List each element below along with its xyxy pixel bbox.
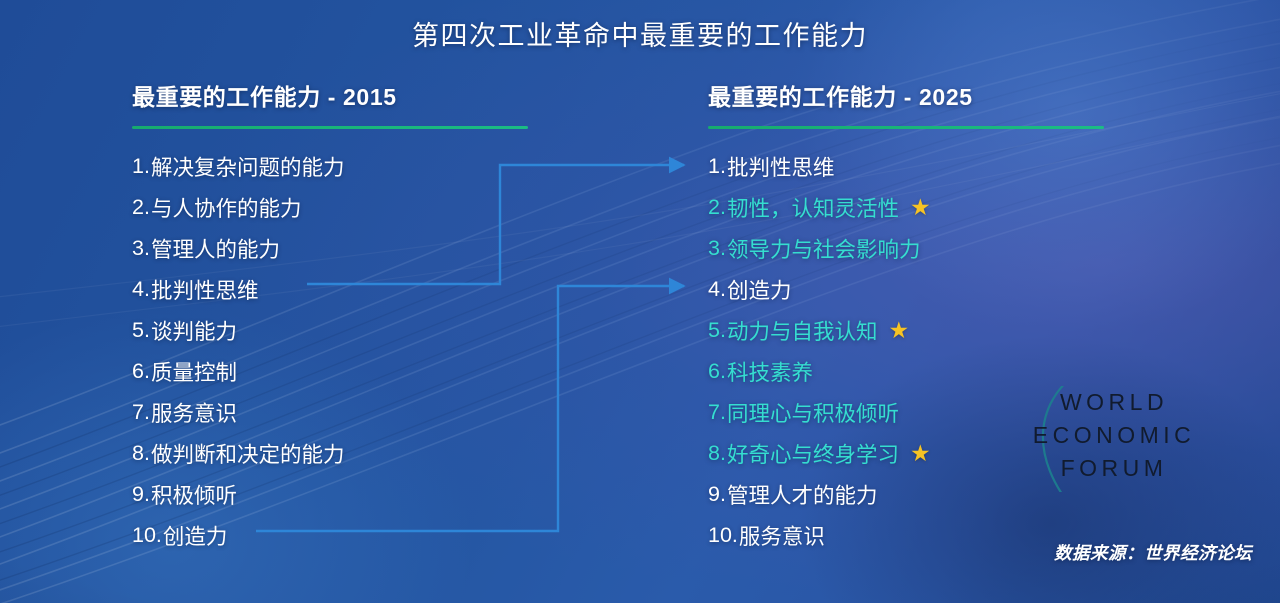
list-item: 5. 动力与自我认知 ★ bbox=[708, 310, 1108, 351]
item-label: 动力与自我认知 bbox=[727, 315, 878, 346]
item-index: 9. bbox=[132, 482, 150, 507]
item-index: 6. bbox=[132, 359, 150, 384]
wef-logo: WORLD ECONOMIC FORUM bbox=[1016, 386, 1212, 492]
item-label: 领导力与社会影响力 bbox=[727, 233, 921, 264]
wef-logo-line1: WORLD bbox=[1016, 386, 1212, 419]
item-label: 服务意识 bbox=[739, 520, 825, 551]
wef-logo-text: WORLD ECONOMIC FORUM bbox=[1016, 386, 1212, 485]
infographic-canvas: 第四次工业革命中最重要的工作能力 最重要的工作能力 - 2015 1. 解决复杂… bbox=[0, 0, 1280, 603]
column-2015-underline bbox=[132, 126, 528, 129]
column-2015: 最重要的工作能力 - 2015 1. 解决复杂问题的能力 2. 与人协作的能力 … bbox=[132, 78, 532, 556]
item-label: 管理人的能力 bbox=[151, 233, 280, 264]
item-label: 谈判能力 bbox=[151, 315, 237, 346]
item-index: 1. bbox=[132, 154, 150, 179]
list-item: 2. 与人协作的能力 bbox=[132, 187, 532, 228]
list-item: 1. 批判性思维 bbox=[708, 146, 1108, 187]
page-title: 第四次工业革命中最重要的工作能力 bbox=[0, 14, 1280, 53]
item-label: 科技素养 bbox=[727, 356, 813, 387]
list-item: 5. 谈判能力 bbox=[132, 310, 532, 351]
column-2025-heading: 最重要的工作能力 - 2025 bbox=[708, 78, 1108, 112]
item-index: 7. bbox=[132, 400, 150, 425]
list-item: 3. 领导力与社会影响力 bbox=[708, 228, 1108, 269]
item-label: 与人协作的能力 bbox=[151, 192, 302, 223]
item-label: 好奇心与终身学习 bbox=[727, 438, 899, 469]
column-2015-heading: 最重要的工作能力 - 2015 bbox=[132, 78, 532, 112]
item-index: 1. bbox=[708, 154, 726, 179]
list-item: 1. 解决复杂问题的能力 bbox=[132, 146, 532, 187]
item-label: 批判性思维 bbox=[727, 151, 835, 182]
item-index: 2. bbox=[132, 195, 150, 220]
list-item: 9. 积极倾听 bbox=[132, 474, 532, 515]
item-label: 同理心与积极倾听 bbox=[727, 397, 899, 428]
list-item: 2. 韧性，认知灵活性 ★ bbox=[708, 187, 1108, 228]
wef-logo-line3: FORUM bbox=[1016, 452, 1212, 485]
list-item: 4. 批判性思维 bbox=[132, 269, 532, 310]
star-icon: ★ bbox=[910, 196, 931, 219]
list-item: 3. 管理人的能力 bbox=[132, 228, 532, 269]
skills-list-2025: 1. 批判性思维 2. 韧性，认知灵活性 ★ 3. 领导力与社会影响力 4. 创… bbox=[708, 146, 1108, 556]
item-index: 2. bbox=[708, 195, 726, 220]
item-index: 5. bbox=[708, 318, 726, 343]
item-label: 创造力 bbox=[727, 274, 792, 305]
item-label: 批判性思维 bbox=[151, 274, 259, 305]
item-index: 4. bbox=[708, 277, 726, 302]
item-label: 积极倾听 bbox=[151, 479, 237, 510]
item-index: 7. bbox=[708, 400, 726, 425]
list-item: 8. 做判断和决定的能力 bbox=[132, 433, 532, 474]
item-index: 9. bbox=[708, 482, 726, 507]
list-item: 10. 创造力 bbox=[132, 515, 532, 556]
wef-logo-line2: ECONOMIC bbox=[1016, 419, 1212, 452]
item-label: 创造力 bbox=[163, 520, 228, 551]
item-label: 管理人才的能力 bbox=[727, 479, 878, 510]
item-index: 8. bbox=[132, 441, 150, 466]
item-index: 6. bbox=[708, 359, 726, 384]
skills-list-2015: 1. 解决复杂问题的能力 2. 与人协作的能力 3. 管理人的能力 4. 批判性… bbox=[132, 146, 532, 556]
item-index: 5. bbox=[132, 318, 150, 343]
item-label: 质量控制 bbox=[151, 356, 237, 387]
column-2025-underline bbox=[708, 126, 1104, 129]
list-item: 6. 质量控制 bbox=[132, 351, 532, 392]
list-item: 4. 创造力 bbox=[708, 269, 1108, 310]
item-index: 10. bbox=[132, 523, 162, 548]
item-index: 10. bbox=[708, 523, 738, 548]
star-icon: ★ bbox=[910, 442, 931, 465]
list-item: 7. 服务意识 bbox=[132, 392, 532, 433]
item-label: 韧性，认知灵活性 bbox=[727, 192, 899, 223]
item-index: 3. bbox=[708, 236, 726, 261]
source-attribution: 数据来源：世界经济论坛 bbox=[1054, 540, 1252, 565]
item-index: 8. bbox=[708, 441, 726, 466]
item-label: 做判断和决定的能力 bbox=[151, 438, 345, 469]
item-index: 3. bbox=[132, 236, 150, 261]
item-label: 解决复杂问题的能力 bbox=[151, 151, 345, 182]
star-icon: ★ bbox=[888, 319, 909, 342]
item-label: 服务意识 bbox=[151, 397, 237, 428]
list-item: 10. 服务意识 bbox=[708, 515, 1108, 556]
item-index: 4. bbox=[132, 277, 150, 302]
